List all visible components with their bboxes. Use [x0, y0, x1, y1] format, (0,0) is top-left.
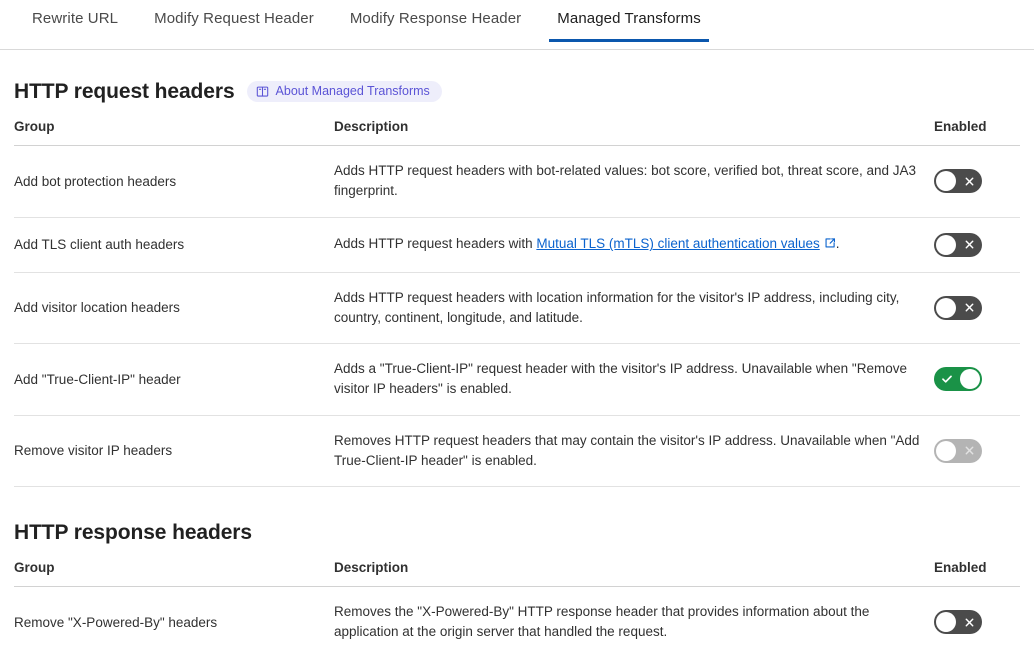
row-group-name: Add visitor location headers	[14, 272, 334, 344]
toggle-knob	[960, 369, 980, 389]
close-icon	[963, 233, 975, 257]
http-response-headers-section: HTTP response headers Group Description …	[0, 521, 1034, 653]
row-group-name: Add "True-Client-IP" header	[14, 344, 334, 416]
table-row: Add bot protection headers Adds HTTP req…	[14, 146, 1020, 218]
response-headers-table: Group Description Enabled Remove "X-Powe…	[14, 560, 1020, 653]
table-header-row: Group Description Enabled	[14, 560, 1020, 587]
row-group-name: Add TLS client auth headers	[14, 217, 334, 272]
close-icon	[963, 296, 975, 320]
book-icon	[256, 85, 269, 98]
table-row: Remove "X-Powered-By" headers Removes th…	[14, 587, 1020, 653]
table-row: Remove visitor IP headers Removes HTTP r…	[14, 415, 1020, 487]
row-enabled-cell	[934, 217, 1020, 272]
close-icon	[963, 169, 975, 193]
request-section-header: HTTP request headers About Managed Trans…	[14, 80, 1020, 103]
check-icon	[941, 367, 953, 391]
row-description: Removes HTTP request headers that may co…	[334, 415, 934, 487]
about-managed-transforms-label: About Managed Transforms	[276, 85, 430, 98]
mtls-documentation-link[interactable]: Mutual TLS (mTLS) client authentication …	[536, 236, 819, 251]
row-enabled-cell	[934, 415, 1020, 487]
toggle-remove-x-powered-by-headers[interactable]	[934, 610, 982, 634]
toggle-knob	[936, 612, 956, 632]
tab-modify-response-header[interactable]: Modify Response Header	[332, 0, 539, 42]
description-text-before: Adds HTTP request headers with	[334, 236, 536, 251]
page-title-request: HTTP request headers	[14, 80, 235, 103]
about-managed-transforms-badge[interactable]: About Managed Transforms	[247, 81, 442, 102]
tab-managed-transforms[interactable]: Managed Transforms	[539, 0, 719, 42]
close-icon	[963, 439, 975, 463]
row-group-name: Remove visitor IP headers	[14, 415, 334, 487]
row-description: Removes the "X-Powered-By" HTTP response…	[334, 587, 934, 653]
row-group-name: Add bot protection headers	[14, 146, 334, 218]
external-link-icon[interactable]	[824, 237, 836, 249]
response-section-header: HTTP response headers	[14, 521, 1020, 544]
table-row: Add TLS client auth headers Adds HTTP re…	[14, 217, 1020, 272]
toggle-add-tls-client-auth-headers[interactable]	[934, 233, 982, 257]
toggle-add-true-client-ip-header[interactable]	[934, 367, 982, 391]
column-header-enabled: Enabled	[934, 560, 1020, 587]
row-description: Adds a "True-Client-IP" request header w…	[334, 344, 934, 416]
row-description: Adds HTTP request headers with location …	[334, 272, 934, 344]
toggle-add-bot-protection-headers[interactable]	[934, 169, 982, 193]
row-enabled-cell	[934, 344, 1020, 416]
row-description: Adds HTTP request headers with Mutual TL…	[334, 217, 934, 272]
column-header-description: Description	[334, 560, 934, 587]
column-header-description: Description	[334, 119, 934, 146]
table-header-row: Group Description Enabled	[14, 119, 1020, 146]
http-request-headers-section: HTTP request headers About Managed Trans…	[0, 80, 1034, 487]
row-enabled-cell	[934, 587, 1020, 653]
toggle-knob	[936, 235, 956, 255]
row-enabled-cell	[934, 146, 1020, 218]
column-header-group: Group	[14, 560, 334, 587]
page-title-response: HTTP response headers	[14, 521, 252, 544]
description-text-after: .	[836, 236, 840, 251]
close-icon	[963, 610, 975, 634]
toggle-knob	[936, 298, 956, 318]
tab-modify-request-header[interactable]: Modify Request Header	[136, 0, 332, 42]
row-enabled-cell	[934, 272, 1020, 344]
table-row: Add visitor location headers Adds HTTP r…	[14, 272, 1020, 344]
tab-bar: Rewrite URL Modify Request Header Modify…	[0, 0, 1034, 50]
toggle-add-visitor-location-headers[interactable]	[934, 296, 982, 320]
tab-rewrite-url[interactable]: Rewrite URL	[14, 0, 136, 42]
toggle-knob	[936, 441, 956, 461]
toggle-knob	[936, 171, 956, 191]
row-group-name: Remove "X-Powered-By" headers	[14, 587, 334, 653]
table-row: Add "True-Client-IP" header Adds a "True…	[14, 344, 1020, 416]
column-header-enabled: Enabled	[934, 119, 1020, 146]
row-description: Adds HTTP request headers with bot-relat…	[334, 146, 934, 218]
column-header-group: Group	[14, 119, 334, 146]
request-headers-table: Group Description Enabled Add bot protec…	[14, 119, 1020, 487]
toggle-remove-visitor-ip-headers	[934, 439, 982, 463]
